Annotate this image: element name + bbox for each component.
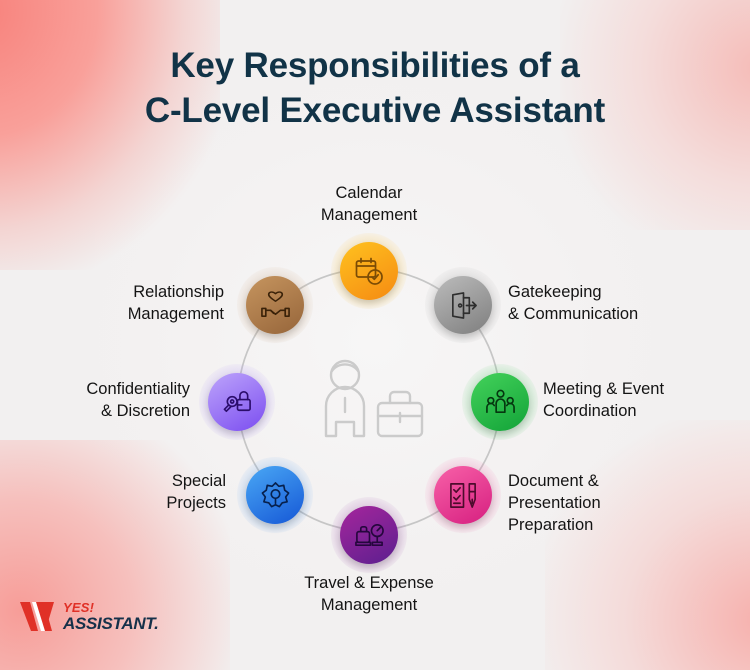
key-lock-icon [222,387,253,418]
brand-logo[interactable]: YES! ASSISTANT. [18,600,159,633]
node-disc-meeting [471,373,529,431]
node-special-projects[interactable] [246,466,304,524]
label-gatekeeping-communication: Gatekeeping & Communication [508,281,738,325]
node-disc-gatekeeping [434,276,492,334]
people-group-icon [485,387,516,418]
logo-line-2: ASSISTANT. [63,615,159,632]
node-confidentiality-discretion[interactable] [208,373,266,431]
node-document-presentation-preparation[interactable] [434,466,492,524]
luggage-scale-icon [354,520,385,551]
label-special-projects: Special Projects [30,470,226,514]
calendar-check-icon [353,255,385,287]
node-disc-travel [340,506,398,564]
node-disc-confidentiality [208,373,266,431]
node-disc-document [434,466,492,524]
gear-icon [260,480,291,511]
node-gatekeeping-communication[interactable] [434,276,492,334]
door-exit-icon [448,290,479,321]
label-calendar-management: Calendar Management [269,182,469,226]
handshake-heart-icon [260,290,291,321]
label-relationship-management: Relationship Management [28,281,224,325]
label-document-presentation-preparation: Document & Presentation Preparation [508,470,738,536]
node-calendar-management[interactable] [340,242,398,300]
node-meeting-event-coordination[interactable] [471,373,529,431]
briefcase-icon [378,392,422,436]
node-disc-relationship [246,276,304,334]
node-travel-expense-management[interactable] [340,506,398,564]
yes-assistant-logo-mark [18,600,56,633]
node-relationship-management[interactable] [246,276,304,334]
center-watermark [310,358,430,440]
person-icon [326,361,364,436]
infographic-canvas: Key Responsibilities of a C-Level Execut… [0,0,750,670]
node-disc-calendar [340,242,398,300]
node-disc-special-projects [246,466,304,524]
logo-wordmark: YES! ASSISTANT. [63,601,159,632]
document-pen-icon [448,480,479,511]
logo-line-1: YES! [63,601,159,614]
label-travel-expense-management: Travel & Expense Management [249,572,489,616]
label-confidentiality-discretion: Confidentiality & Discretion [20,378,190,422]
label-meeting-event-coordination: Meeting & Event Coordination [543,378,750,422]
